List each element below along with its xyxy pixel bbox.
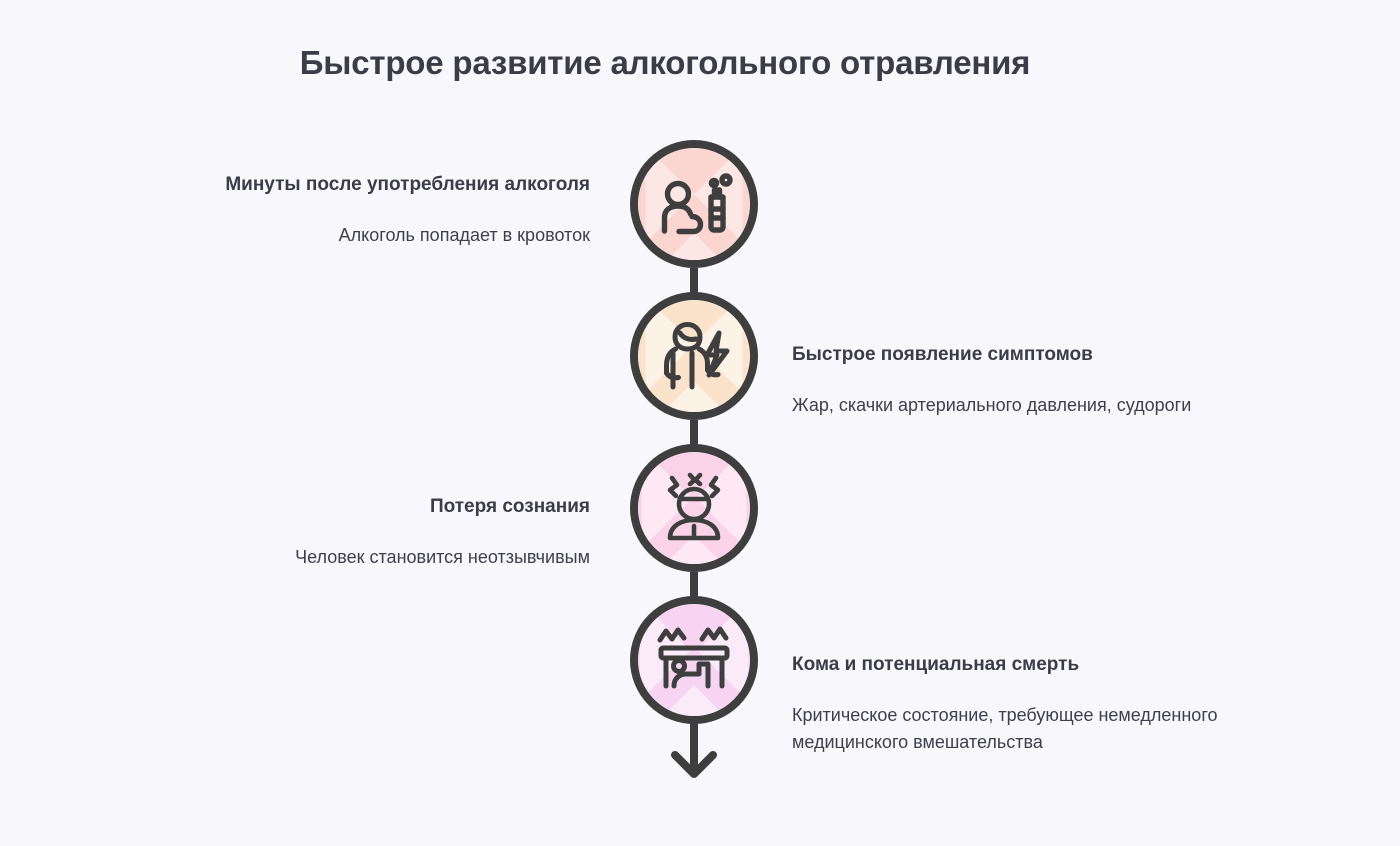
step-3-node[interactable] (630, 444, 758, 572)
step-2-text: Быстрое появление симптомов Жар, скачки … (792, 342, 1242, 419)
step-3-description: Человек становится неотзывчивым (170, 544, 590, 571)
dizzy-person-icon (638, 452, 750, 564)
step-1-title: Минуты после употребления алкоголя (170, 172, 590, 198)
step-3-title: Потеря сознания (170, 494, 590, 520)
step-4-text: Кома и потенциальная смерть Критическое … (792, 652, 1242, 756)
step-2-title: Быстрое появление симптомов (792, 342, 1242, 368)
step-4-description: Критическое состояние, требующее немедле… (792, 702, 1242, 756)
person-with-bottle-icon (638, 148, 750, 260)
step-1-text: Минуты после употребления алкоголя Алког… (170, 172, 590, 249)
timeline: Минуты после употребления алкоголя Алког… (0, 0, 1400, 846)
person-with-lightning-icon (638, 300, 750, 412)
step-2-description: Жар, скачки артериального давления, судо… (792, 392, 1242, 419)
timeline-step-2: Быстрое появление симптомов Жар, скачки … (0, 292, 1400, 420)
step-4-title: Кома и потенциальная смерть (792, 652, 1242, 678)
down-arrow-icon (659, 722, 729, 784)
step-3-text: Потеря сознания Человек становится неотз… (170, 494, 590, 571)
step-1-node[interactable] (630, 140, 758, 268)
step-4-node[interactable] (630, 596, 758, 724)
timeline-step-4: Кома и потенциальная смерть Критическое … (0, 596, 1400, 724)
timeline-step-1: Минуты после употребления алкоголя Алког… (0, 140, 1400, 268)
infographic-canvas: Быстрое развитие алкогольного отравления… (0, 0, 1400, 846)
step-1-description: Алкоголь попадает в кровоток (170, 222, 590, 249)
step-2-node[interactable] (630, 292, 758, 420)
patient-in-hospital-bed-icon (638, 604, 750, 716)
timeline-step-3: Потеря сознания Человек становится неотз… (0, 444, 1400, 572)
